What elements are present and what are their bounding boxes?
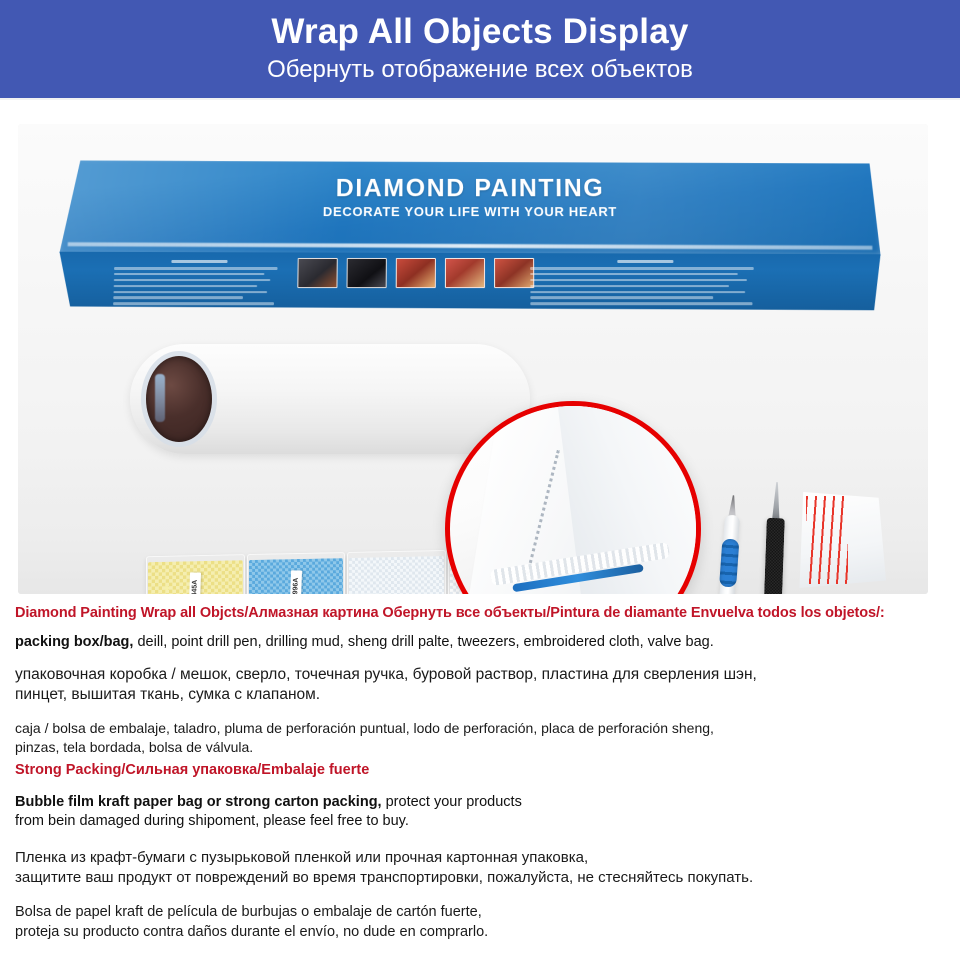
copy-contents-es-line2: pinzas, tela bordada, bolsa de válvula. — [15, 739, 253, 755]
copy-heading-red: Diamond Painting Wrap all Objcts/Алмазна… — [15, 606, 945, 621]
box-thumbnail-strip — [297, 258, 534, 288]
drill-bag — [347, 550, 446, 594]
box-instructions-left — [113, 260, 285, 308]
copy-packing-en-line1: Bubble film kraft paper bag or strong ca… — [15, 794, 382, 810]
copy-packing-en: Bubble film kraft paper bag or strong ca… — [15, 793, 945, 831]
box-thumbnail — [494, 258, 534, 288]
box-brand-title: DIAMOND PAINTING — [61, 174, 879, 203]
pen-grip — [719, 538, 739, 587]
page-title: Wrap All Objects Display — [271, 14, 688, 51]
box-slogan: DECORATE YOUR LIFE WITH YOUR HEART — [61, 204, 880, 219]
copy-contents-en: packing box/bag, deill, point drill pen,… — [15, 635, 945, 650]
copy-packing-ru-line1: Пленка из крафт-бумаги с пузырьковой пле… — [15, 849, 588, 866]
copy-contents-es-line1: caja / bolsa de embalaje, taladro, pluma… — [15, 720, 714, 736]
box-thumbnail — [396, 258, 436, 288]
page-banner: Wrap All Objects Display Обернуть отобра… — [0, 0, 960, 100]
copy-contents-ru: упаковочная коробка / мешок, сверло, точ… — [15, 665, 945, 705]
copy-packing-en-line2: from bein damaged during shipoment, plea… — [15, 813, 409, 829]
copy-packing-es-line2: proteja su producto contra daños durante… — [15, 924, 488, 940]
tube-end-cap — [146, 356, 212, 442]
zip-bags-icon — [794, 492, 886, 588]
copy-contents-es: caja / bolsa de embalaje, taladro, pluma… — [15, 719, 945, 757]
copy-packing-heading-red: Strong Packing/Сильная упаковка/Embalaje… — [15, 763, 945, 778]
copy-packing-es-line1: Bolsa de papel kraft de película de burb… — [15, 904, 482, 920]
copy-contents-ru-line1: упаковочная коробка / мешок, сверло, точ… — [15, 666, 757, 683]
description-copy: Diamond Painting Wrap all Objcts/Алмазна… — [0, 606, 960, 942]
product-box: DIAMOND PAINTING DECORATE YOUR LIFE WITH… — [58, 161, 883, 313]
box-thumbnail — [347, 258, 387, 288]
copy-contents-en-bold: packing box/bag, — [15, 634, 133, 650]
copy-packing-ru-line2: защитите ваш продукт от повреждений во в… — [15, 869, 753, 886]
drill-bag: 445A — [146, 554, 245, 594]
box-thumbnail — [297, 258, 337, 288]
drill-bag-label: 996A — [290, 571, 302, 594]
product-photo: DIAMOND PAINTING DECORATE YOUR LIFE WITH… — [18, 124, 928, 594]
drill-bag: 996A — [247, 552, 346, 594]
copy-packing-en-line1-rest: protect your products — [382, 794, 522, 810]
copy-contents-en-rest: deill, point drill pen, drilling mud, sh… — [133, 634, 713, 650]
page-subtitle-ru: Обернуть отображение всех объектов — [267, 56, 693, 84]
copy-packing-ru: Пленка из крафт-бумаги с пузырьковой пле… — [15, 848, 945, 888]
copy-packing-es: Bolsa de papel kraft de película de burb… — [15, 902, 945, 942]
box-thumbnail — [445, 258, 485, 288]
canvas-roll-tube — [130, 344, 530, 454]
box-instructions-right — [530, 260, 762, 308]
copy-contents-ru-line2: пинцет, вышитая ткань, сумка с клапаном. — [15, 686, 320, 703]
tweezers-body — [762, 518, 785, 594]
drill-bag-label: 445A — [189, 573, 201, 594]
